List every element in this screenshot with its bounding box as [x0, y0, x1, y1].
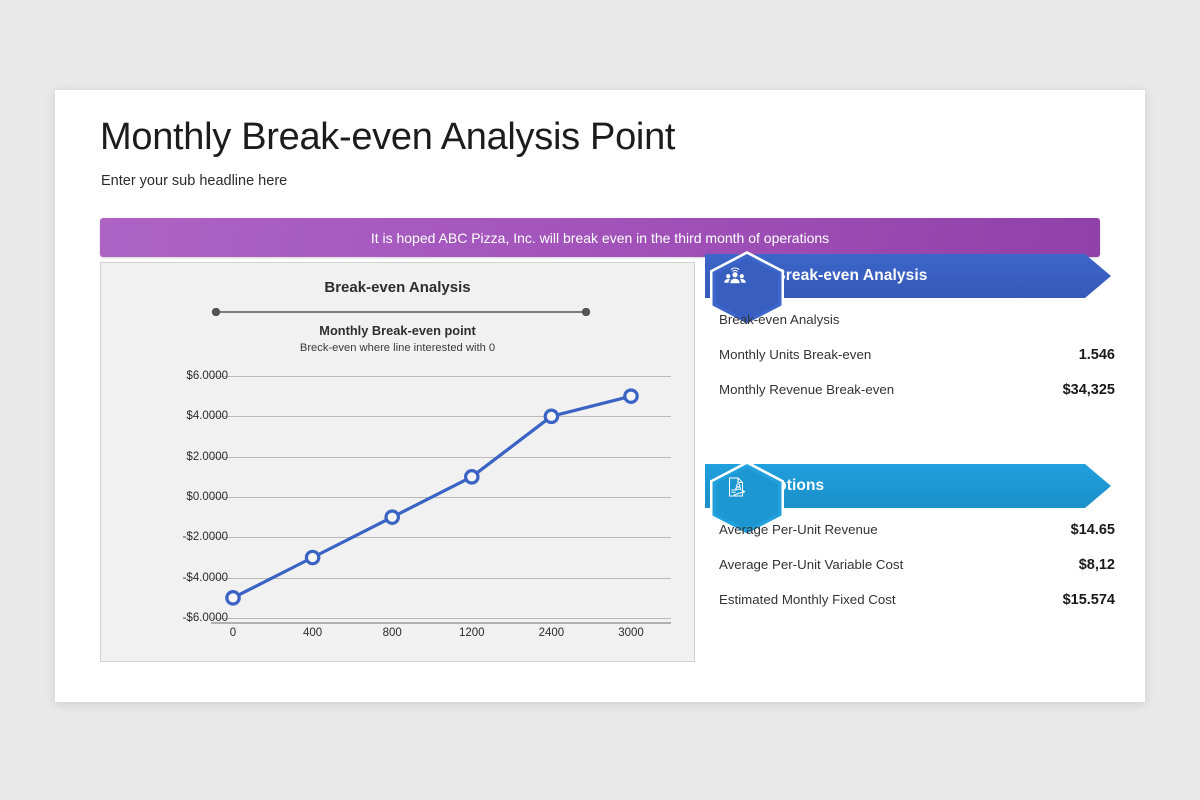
data-point-marker — [227, 592, 239, 604]
section-header-bar-table[interactable]: Table: Break-even Analysis — [705, 250, 1115, 302]
row-label: Break-even Analysis — [719, 312, 839, 327]
x-axis-tick-label: 1200 — [437, 627, 507, 639]
data-point-marker — [306, 551, 318, 563]
row-value: 1.546 — [1079, 347, 1115, 363]
table-row: Average Per-Unit Variable Cost$8,12 — [719, 557, 1115, 592]
line-series — [211, 376, 671, 618]
chart-subtitle: Monthly Break-even point — [101, 323, 694, 338]
chart-note: Breck-even where line interested with 0 — [101, 342, 694, 354]
data-point-marker — [545, 410, 557, 422]
plot-area — [211, 376, 671, 618]
row-value: $15.574 — [1063, 592, 1115, 608]
row-label: Monthly Revenue Break-even — [719, 382, 894, 397]
row-label: Average Per-Unit Revenue — [719, 522, 878, 537]
row-label: Estimated Monthly Fixed Cost — [719, 592, 896, 607]
rows-table: Break-even AnalysisMonthly Units Break-e… — [719, 312, 1115, 417]
row-label: Monthly Units Break-even — [719, 347, 871, 362]
gridline — [211, 618, 671, 619]
section-assumptions: Assumptions Average Per-Unit Revenue$14.… — [705, 460, 1115, 512]
y-axis-tick-label: -$4.0000 — [108, 572, 228, 584]
row-label: Average Per-Unit Variable Cost — [719, 557, 903, 572]
slide: Monthly Break-even Analysis Point Enter … — [55, 90, 1145, 702]
data-point-marker — [386, 511, 398, 523]
row-value: $8,12 — [1079, 557, 1115, 573]
x-axis-tick-label: 2400 — [516, 627, 586, 639]
table-row: Estimated Monthly Fixed Cost$15.574 — [719, 592, 1115, 627]
table-row: Monthly Units Break-even1.546 — [719, 347, 1115, 382]
x-axis-tick-label: 0 — [198, 627, 268, 639]
chart-title: Break-even Analysis — [101, 279, 694, 296]
section-header-bar-assumptions[interactable]: Assumptions — [705, 460, 1115, 512]
y-axis-tick-label: -$6.0000 — [108, 612, 228, 624]
y-axis-tick-label: $0.0000 — [108, 491, 228, 503]
page-title: Monthly Break-even Analysis Point — [100, 116, 675, 159]
chart-divider-rule — [211, 308, 591, 316]
break-even-chart-panel: Break-even Analysis Monthly Break-even p… — [100, 262, 695, 662]
y-axis-tick-label: -$2.0000 — [108, 531, 228, 543]
banner-text: It is hoped ABC Pizza, Inc. will break e… — [371, 230, 829, 246]
x-axis-tick-label: 400 — [278, 627, 348, 639]
row-value: $34,325 — [1063, 382, 1115, 398]
y-axis-tick-label: $6.0000 — [108, 370, 228, 382]
rows-assumptions: Average Per-Unit Revenue$14.65Average Pe… — [719, 522, 1115, 627]
x-axis-line — [211, 622, 671, 624]
x-axis-tick-label: 3000 — [596, 627, 666, 639]
row-value: $14.65 — [1071, 522, 1115, 538]
table-row: Average Per-Unit Revenue$14.65 — [719, 522, 1115, 557]
y-axis-tick-label: $2.0000 — [108, 451, 228, 463]
table-row: Break-even Analysis — [719, 312, 1115, 347]
table-row: Monthly Revenue Break-even$34,325 — [719, 382, 1115, 417]
section-table: Table: Break-even Analysis Break-even An… — [705, 250, 1115, 302]
page-subtitle: Enter your sub headline here — [101, 173, 287, 189]
y-axis-tick-label: $4.0000 — [108, 410, 228, 422]
x-axis-tick-label: 800 — [357, 627, 427, 639]
data-point-marker — [625, 390, 637, 402]
data-point-marker — [466, 471, 478, 483]
